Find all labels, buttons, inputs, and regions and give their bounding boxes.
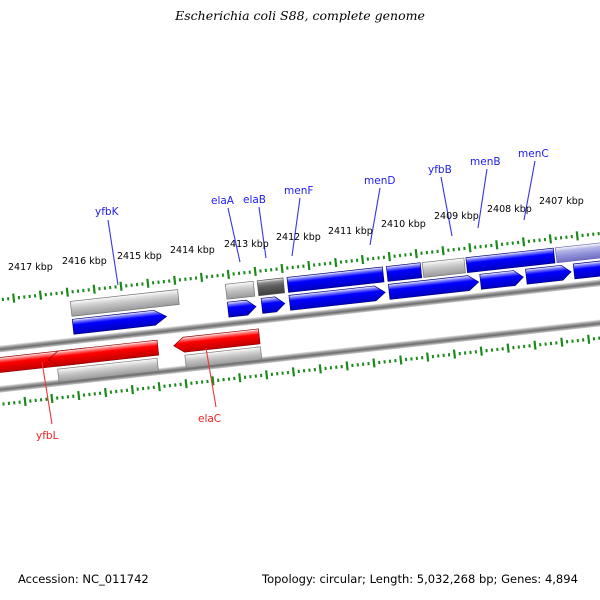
- ruler-tick: [169, 384, 171, 387]
- ruler-tick: [593, 337, 595, 340]
- ruler-tick: [377, 256, 379, 259]
- ruler-tick: [480, 347, 483, 356]
- ruler-tick: [410, 357, 412, 360]
- ruler-tick: [82, 289, 84, 292]
- tick-2408: 2408 kbp: [487, 204, 532, 215]
- gene-arrow-elaB: [261, 296, 286, 313]
- ruler-tick: [271, 373, 273, 376]
- ruler-tick: [372, 257, 374, 260]
- accession-text: Accession: NC_011742: [18, 572, 149, 586]
- ruler-tick: [40, 398, 42, 401]
- ruler-tick: [539, 343, 541, 346]
- ruler-tick: [441, 246, 444, 255]
- ruler-tick: [163, 280, 165, 283]
- ruler-tick: [334, 258, 337, 267]
- ruler-tick: [415, 249, 418, 258]
- ruler-tick: [195, 276, 197, 279]
- ruler-tick: [475, 350, 477, 353]
- ruler-tick: [372, 358, 375, 367]
- ruler-tick: [190, 382, 192, 385]
- ruler-tick: [61, 291, 63, 294]
- ruler-tick: [119, 282, 122, 291]
- ruler-tick: [7, 297, 9, 300]
- ruler-tick: [329, 262, 331, 265]
- ruler-tick: [174, 383, 176, 386]
- ruler-tick: [287, 371, 289, 374]
- gene-label-menF[interactable]: menF: [284, 185, 313, 197]
- ruler-tick: [232, 272, 234, 275]
- ruler-tick: [517, 241, 519, 244]
- ruler-tick: [351, 259, 353, 262]
- ruler-tick: [297, 265, 299, 268]
- ruler-tick: [281, 371, 283, 374]
- ruler-tick: [549, 234, 552, 243]
- ruler-tick: [243, 271, 245, 274]
- ruler-tick: [136, 283, 138, 286]
- ruler-tick: [447, 249, 449, 252]
- gene-label-elaA[interactable]: elaA: [211, 195, 234, 207]
- ruler-tick: [216, 274, 218, 277]
- tick-2409: 2409 kbp: [434, 211, 479, 222]
- ruler-tick: [405, 358, 407, 361]
- ruler-tick: [502, 347, 504, 350]
- ruler-tick: [259, 269, 261, 272]
- ruler-tick: [260, 374, 262, 377]
- gene-label-menB[interactable]: menB: [470, 156, 501, 168]
- ruler-tick: [496, 348, 498, 351]
- ruler-tick: [518, 345, 520, 348]
- ruler-tick: [153, 386, 155, 389]
- ruler-tick: [125, 284, 127, 287]
- ruler-tick: [77, 289, 79, 292]
- ruler-tick: [485, 244, 487, 247]
- ruler-tick: [367, 257, 369, 260]
- ruler-tick: [490, 244, 492, 247]
- ruler-tick: [292, 367, 295, 376]
- gene-label-yfbB[interactable]: yfbB: [428, 164, 452, 176]
- ruler-tick: [587, 335, 590, 344]
- ruler-tick: [12, 294, 15, 303]
- ruler-tick: [179, 278, 181, 281]
- ruler-tick: [196, 381, 198, 384]
- ruler-tick: [550, 342, 552, 345]
- tick-2411: 2411 kbp: [328, 226, 373, 237]
- ruler-tick: [99, 392, 101, 395]
- ruler-tick: [587, 233, 589, 236]
- ruler-tick: [23, 295, 25, 298]
- ruler-tick: [565, 235, 567, 238]
- ruler-tick: [522, 237, 525, 246]
- ruler-tick: [432, 355, 434, 358]
- ruler-tick: [276, 372, 278, 375]
- ruler-tick: [448, 353, 450, 356]
- ruler-tick: [362, 363, 364, 366]
- ruler-tick: [421, 356, 423, 359]
- ruler-tick: [249, 270, 251, 273]
- ruler-tick: [98, 287, 100, 290]
- ruler-tick: [130, 283, 132, 286]
- tick-2412: 2412 kbp: [276, 232, 321, 243]
- ruler-tick: [501, 243, 503, 246]
- ruler-tick: [29, 399, 31, 402]
- tick-2415: 2415 kbp: [117, 251, 162, 262]
- ruler-tick: [479, 245, 481, 248]
- ruler-tick: [383, 360, 385, 363]
- ruler-tick: [346, 361, 349, 370]
- ruler-tick: [442, 354, 444, 357]
- ruler-tick: [523, 345, 525, 348]
- ruler-tick: [426, 352, 429, 361]
- topology-text: Topology: circular; Length: 5,032,268 bp…: [262, 572, 578, 586]
- ruler-tick: [29, 295, 31, 298]
- ruler-tick: [56, 396, 58, 399]
- ruler-tick: [469, 351, 471, 354]
- ruler-tick: [18, 400, 20, 403]
- ruler-tick: [335, 366, 337, 369]
- ruler-tick: [292, 266, 294, 269]
- leader-line-elaB: [259, 207, 266, 258]
- ruler-tick: [211, 275, 213, 278]
- ruler-tick: [18, 296, 20, 299]
- ruler-tick: [468, 243, 471, 252]
- ruler-tick: [88, 393, 90, 396]
- leader-line-yfbB: [441, 177, 452, 236]
- gene-arrow-yfbB: [480, 270, 524, 290]
- ruler-tick: [571, 235, 573, 238]
- ruler-tick: [146, 279, 149, 288]
- ruler-tick: [458, 247, 460, 250]
- tick-2417: 2417 kbp: [8, 262, 53, 273]
- tick-2413: 2413 kbp: [224, 239, 269, 250]
- ruler-tick: [426, 251, 428, 254]
- ruler-tick: [357, 363, 359, 366]
- ruler-tick: [249, 375, 251, 378]
- ruler-tick: [582, 338, 584, 341]
- ruler-tick: [555, 341, 557, 344]
- ruler-tick: [77, 391, 80, 400]
- ruler-tick: [238, 373, 241, 382]
- gene-label-menC[interactable]: menC: [518, 148, 549, 160]
- ruler-tick: [275, 267, 277, 270]
- ruler-tick: [388, 252, 391, 261]
- ruler-tick: [437, 354, 439, 357]
- ruler-tick: [115, 390, 117, 393]
- ruler-tick: [254, 267, 257, 276]
- ruler-tick: [495, 240, 498, 249]
- ruler-tick: [158, 382, 161, 391]
- ruler-tick: [83, 393, 85, 396]
- ruler-tick: [394, 254, 396, 257]
- gene-track-reverse: [0, 329, 262, 390]
- ruler-tick: [394, 359, 396, 362]
- ruler-tick: [238, 272, 240, 275]
- ruler-tick: [66, 288, 69, 297]
- ruler-tick: [592, 233, 594, 236]
- ruler-tick: [576, 231, 579, 240]
- ruler-tick: [512, 346, 514, 349]
- ruler-tick: [72, 395, 74, 398]
- ruler-tick: [453, 349, 456, 358]
- leader-line-elaA: [228, 208, 240, 262]
- ruler-tick: [206, 275, 208, 278]
- ruler-tick: [330, 366, 332, 369]
- ruler-tick: [206, 380, 208, 383]
- ruler-tick: [50, 394, 53, 403]
- ruler-tick: [270, 268, 272, 271]
- gene-arrow-menB: [526, 264, 572, 284]
- ruler-tick: [560, 236, 562, 239]
- ruler-tick: [463, 247, 465, 250]
- ruler-tick: [222, 378, 224, 381]
- ruler-tick: [314, 368, 316, 371]
- ruler-tick: [163, 384, 165, 387]
- ruler-tick: [544, 238, 546, 241]
- tick-2407: 2407 kbp: [539, 196, 584, 207]
- ruler-tick: [184, 278, 186, 281]
- ruler-tick: [120, 389, 122, 392]
- ruler-tick: [399, 254, 401, 257]
- ruler-tick: [560, 338, 563, 347]
- ruler-tick: [255, 374, 257, 377]
- ruler-tick: [67, 395, 69, 398]
- tick-2414: 2414 kbp: [170, 245, 215, 256]
- ruler-tick: [345, 260, 347, 263]
- ruler-tick: [45, 293, 47, 296]
- ruler-tick: [185, 379, 188, 388]
- ruler-tick: [491, 348, 493, 351]
- ruler-tick: [94, 392, 96, 395]
- ruler-tick: [485, 349, 487, 352]
- ruler-tick: [104, 388, 107, 397]
- ruler-tick: [55, 292, 57, 295]
- ruler-tick: [581, 234, 583, 237]
- ruler-tick: [114, 285, 116, 288]
- ruler-tick: [307, 261, 310, 270]
- ruler-tick: [141, 282, 143, 285]
- gene-label-yfbL[interactable]: yfbL: [36, 430, 58, 442]
- ruler-tick: [298, 370, 300, 373]
- gene-band-menD: [386, 263, 421, 282]
- ruler-tick: [410, 253, 412, 256]
- gene-arrow-elaA: [227, 299, 256, 317]
- ruler-tick: [506, 242, 508, 245]
- ruler-tick: [173, 276, 176, 285]
- leader-line-menB: [478, 169, 487, 228]
- ruler-tick: [93, 285, 96, 294]
- ruler-tick: [416, 357, 418, 360]
- ruler-tick: [179, 383, 181, 386]
- gene-arrow-menC: [573, 259, 600, 279]
- ruler-tick: [217, 379, 219, 382]
- ruler-tick: [201, 380, 203, 383]
- ruler-tick: [35, 399, 37, 402]
- ruler-tick: [464, 351, 466, 354]
- ruler-tick: [404, 253, 406, 256]
- ruler-tick: [228, 377, 230, 380]
- tick-2416: 2416 kbp: [62, 256, 107, 267]
- ruler-tick: [383, 256, 385, 259]
- ruler-tick: [431, 250, 433, 253]
- leader-line-yfbL: [42, 362, 52, 424]
- ruler-tick: [308, 368, 310, 371]
- ruler-tick: [351, 364, 353, 367]
- ruler-tick: [61, 396, 63, 399]
- ruler-tick: [474, 246, 476, 249]
- ruler-tick: [356, 259, 358, 262]
- ruler-tick: [313, 263, 315, 266]
- gene-label-yfbK[interactable]: yfbK: [95, 206, 118, 218]
- ruler-tick: [265, 370, 268, 379]
- gene-label-elaB[interactable]: elaB: [243, 194, 266, 206]
- ruler-tick: [318, 263, 320, 266]
- ruler-tick: [233, 377, 235, 380]
- ruler-tick: [39, 291, 42, 300]
- ruler-tick: [152, 281, 154, 284]
- genome-map-canvas: [0, 0, 600, 600]
- ruler-tick: [126, 389, 128, 392]
- ruler-tick: [50, 292, 52, 295]
- gene-label-menD[interactable]: menD: [364, 175, 395, 187]
- ruler-tick: [168, 279, 170, 282]
- ruler-tick: [399, 355, 402, 364]
- ruler-tick: [341, 365, 343, 368]
- ruler-tick: [13, 401, 15, 404]
- ruler-tick: [533, 341, 536, 350]
- ruler-tick: [538, 238, 540, 241]
- ruler-tick: [222, 273, 224, 276]
- ruler-tick: [8, 402, 10, 405]
- ruler-tick: [131, 385, 134, 394]
- ruler-tick: [147, 386, 149, 389]
- ruler-tick: [319, 364, 322, 373]
- ruler-tick: [110, 390, 112, 393]
- tick-2410: 2410 kbp: [381, 219, 426, 230]
- leader-line-menF: [292, 198, 300, 256]
- ruler-tick: [227, 270, 230, 279]
- ruler-tick: [571, 339, 573, 342]
- ruler-tick: [2, 298, 4, 301]
- ruler-tick: [528, 344, 530, 347]
- ruler-tick: [324, 262, 326, 265]
- ruler-tick: [280, 264, 283, 273]
- ruler-tick: [244, 376, 246, 379]
- ruler-tick: [157, 281, 159, 284]
- ruler-tick: [420, 251, 422, 254]
- ruler-tick: [459, 352, 461, 355]
- ruler-tick: [71, 290, 73, 293]
- ruler-tick: [597, 232, 599, 235]
- ruler-tick: [555, 237, 557, 240]
- ruler-tick: [137, 387, 139, 390]
- ruler-tick: [566, 340, 568, 343]
- ruler-tick: [507, 344, 510, 353]
- ruler-tick: [303, 369, 305, 372]
- ruler-tick: [324, 367, 326, 370]
- ruler-tick: [544, 342, 546, 345]
- ruler-tick: [512, 241, 514, 244]
- ruler-tick: [265, 269, 267, 272]
- ruler-tick: [88, 288, 90, 291]
- ruler-tick: [367, 362, 369, 365]
- ruler-tick: [23, 397, 26, 406]
- genome-map-viewer: Escherichia coli S88, complete genome: [0, 0, 600, 600]
- ruler-tick: [533, 239, 535, 242]
- ruler-tick: [528, 240, 530, 243]
- ruler-tick: [104, 286, 106, 289]
- ruler-tick: [190, 277, 192, 280]
- ruler-tick: [286, 266, 288, 269]
- ruler-tick: [436, 250, 438, 253]
- ruler-tick: [2, 402, 4, 405]
- ruler-tick: [302, 265, 304, 268]
- ruler-tick: [389, 360, 391, 363]
- ruler-tick: [453, 248, 455, 251]
- ruler-tick: [340, 260, 342, 263]
- ruler-tick: [34, 294, 36, 297]
- ruler-tick: [577, 339, 579, 342]
- ruler-tick: [200, 273, 203, 282]
- gene-label-elaC[interactable]: elaC: [198, 413, 221, 425]
- ruler-tick: [378, 361, 380, 364]
- ruler-tick: [361, 255, 364, 264]
- ruler-tick: [109, 286, 111, 289]
- ruler-tick: [142, 387, 144, 390]
